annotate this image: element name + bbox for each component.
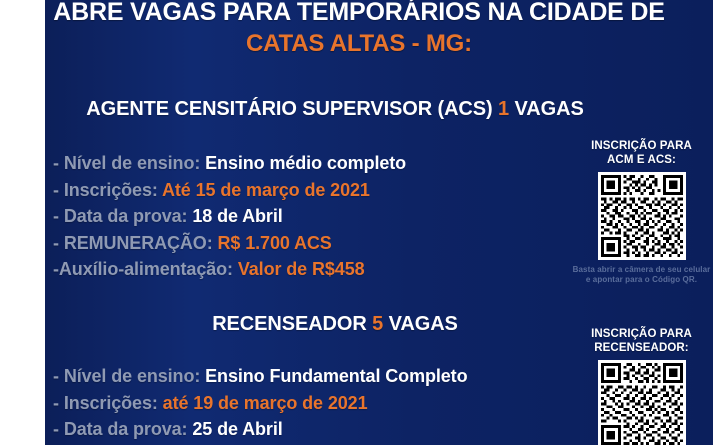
bullet-marker: -: [53, 393, 59, 413]
qr-title-acm-acs: INSCRIÇÃO PARA ACM E ACS:: [570, 140, 713, 167]
detail-value: 25 de Abril: [192, 419, 282, 439]
page-subtitle-city: CATAS ALTAS - MG:: [45, 30, 673, 58]
qr-caption-acm-acs: Basta abrir a câmera de seu celular e ap…: [570, 265, 713, 284]
bullet-marker: -: [53, 180, 59, 200]
bullet-marker: -: [53, 153, 59, 173]
detail-value: Ensino Fundamental Completo: [205, 366, 467, 386]
detail-value: Até 15 de março de 2021: [162, 180, 370, 200]
qr-code-icon-svg: [601, 363, 683, 445]
detail-value: 18 de Abril: [192, 206, 282, 226]
bullet-marker: -: [53, 233, 59, 253]
qr-title-recenseador: INSCRIÇÃO PARA RECENSEADOR:: [570, 328, 713, 355]
job-vacancies-count-acs: 1: [498, 98, 509, 120]
job-vacancies-count-recenseador: 5: [372, 313, 383, 335]
detail-value: Valor de R$458: [238, 259, 365, 279]
blue-content-panel: ABRE VAGAS PARA TEMPORÁRIOS NA CIDADE DE…: [45, 0, 713, 445]
list-item: - Data da prova: 18 de Abril: [53, 203, 613, 230]
detail-value: R$ 1.700 ACS: [218, 233, 332, 253]
job-title-acs: AGENTE CENSITÁRIO SUPERVISOR (ACS): [86, 98, 492, 120]
qr-title-line2: RECENSEADOR:: [594, 342, 689, 354]
detail-label: Inscrições:: [64, 393, 158, 413]
bullet-marker: -: [53, 419, 59, 439]
qr-section-recenseador: INSCRIÇÃO PARA RECENSEADOR:: [570, 328, 713, 445]
job-heading-acs: AGENTE CENSITÁRIO SUPERVISOR (ACS) 1 VAG…: [45, 98, 625, 121]
bullet-marker: -: [53, 206, 59, 226]
detail-label: Nível de ensino:: [64, 153, 200, 173]
job-details-list-acs: - Nível de ensino: Ensino médio completo…: [53, 150, 613, 283]
bullet-marker: -: [53, 366, 59, 386]
job-vacancies-word-recenseador: VAGAS: [389, 313, 458, 335]
detail-label: Data da prova:: [64, 206, 188, 226]
qr-title-line1: INSCRIÇÃO PARA: [591, 140, 692, 152]
left-white-margin: [0, 0, 45, 445]
job-heading-recenseador: RECENSEADOR 5 VAGAS: [45, 313, 625, 336]
qr-code-icon[interactable]: [598, 172, 686, 260]
qr-title-line1: INSCRIÇÃO PARA: [591, 328, 692, 340]
qr-section-acm-acs: INSCRIÇÃO PARA ACM E ACS:: [570, 140, 713, 284]
detail-value: Ensino médio completo: [205, 153, 406, 173]
job-title-recenseador: RECENSEADOR: [212, 313, 366, 335]
detail-label: Inscrições:: [64, 180, 158, 200]
job-vacancies-word-acs: VAGAS: [515, 98, 584, 120]
detail-value: até 19 de março de 2021: [163, 393, 368, 413]
list-item: - Data da prova: 25 de Abril: [53, 416, 613, 443]
detail-label: Nível de ensino:: [64, 366, 200, 386]
detail-label: Data da prova:: [64, 419, 188, 439]
job-details-list-recenseador: - Nível de ensino: Ensino Fundamental Co…: [53, 363, 613, 443]
list-item: - REMUNERAÇÃO: R$ 1.700 ACS: [53, 230, 613, 257]
qr-code-icon-svg: [601, 175, 683, 257]
list-item: - Nível de ensino: Ensino médio completo: [53, 150, 613, 177]
qr-title-line2: ACM E ACS:: [607, 154, 676, 166]
detail-label: REMUNERAÇÃO:: [64, 233, 213, 253]
qr-code-icon[interactable]: [598, 360, 686, 445]
list-item: - Inscrições: até 19 de março de 2021: [53, 390, 613, 417]
list-item: - Nível de ensino: Ensino Fundamental Co…: [53, 363, 613, 390]
detail-label: Auxílio-alimentação:: [59, 259, 233, 279]
list-item: - Inscrições: Até 15 de março de 2021: [53, 177, 613, 204]
poster-root: ABRE VAGAS PARA TEMPORÁRIOS NA CIDADE DE…: [0, 0, 713, 445]
page-title: ABRE VAGAS PARA TEMPORÁRIOS NA CIDADE DE: [45, 0, 673, 26]
list-item: -Auxílio-alimentação: Valor de R$458: [53, 256, 613, 283]
